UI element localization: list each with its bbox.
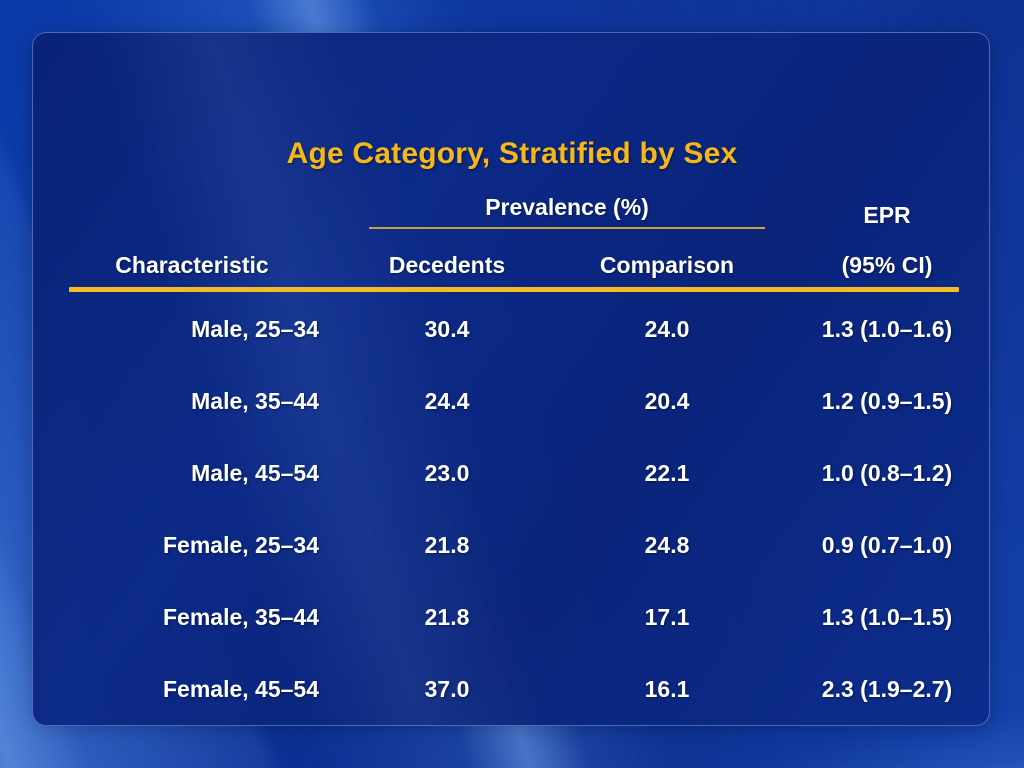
table-row: Female, 25–34 21.8 24.8 0.9 (0.7–1.0)	[37, 509, 987, 581]
cell-characteristic: Female, 45–54	[37, 653, 347, 725]
table-row: Male, 45–54 23.0 22.1 1.0 (0.8–1.2)	[37, 437, 987, 509]
results-table-container: Prevalence (%) EPR Characteristic Decede…	[37, 189, 987, 725]
group-header-characteristic-spacer	[37, 189, 347, 233]
table-body: Male, 25–34 30.4 24.0 1.3 (1.0–1.6) Male…	[37, 293, 987, 725]
presentation-slide: Age Category, Stratified by Sex Prevalen…	[0, 0, 1024, 768]
cell-decedents: 21.8	[347, 509, 547, 581]
cell-epr: 0.9 (0.7–1.0)	[787, 509, 987, 581]
column-header-comparison: Comparison	[547, 233, 787, 285]
cell-epr: 2.3 (1.9–2.7)	[787, 653, 987, 725]
cell-epr: 1.2 (0.9–1.5)	[787, 365, 987, 437]
cell-decedents: 23.0	[347, 437, 547, 509]
results-table: Prevalence (%) EPR Characteristic Decede…	[37, 189, 987, 725]
content-panel: Age Category, Stratified by Sex Prevalen…	[32, 32, 990, 726]
table-group-header-row: Prevalence (%) EPR	[37, 189, 987, 233]
cell-epr: 1.3 (1.0–1.6)	[787, 293, 987, 365]
cell-epr: 1.3 (1.0–1.5)	[787, 581, 987, 653]
slide-title: Age Category, Stratified by Sex	[33, 137, 990, 171]
table-column-header-row: Characteristic Decedents Comparison (95%…	[37, 233, 987, 285]
cell-comparison: 16.1	[547, 653, 787, 725]
cell-decedents: 21.8	[347, 581, 547, 653]
table-head: Prevalence (%) EPR Characteristic Decede…	[37, 189, 987, 293]
cell-characteristic: Female, 25–34	[37, 509, 347, 581]
cell-characteristic: Male, 45–54	[37, 437, 347, 509]
table-row: Female, 35–44 21.8 17.1 1.3 (1.0–1.5)	[37, 581, 987, 653]
table-header-rule	[69, 287, 959, 292]
table-row: Male, 25–34 30.4 24.0 1.3 (1.0–1.6)	[37, 293, 987, 365]
group-header-epr: EPR	[787, 189, 987, 233]
cell-comparison: 22.1	[547, 437, 787, 509]
group-header-epr-label: EPR	[863, 202, 910, 228]
group-header-prevalence: Prevalence (%)	[347, 189, 787, 233]
column-header-characteristic: Characteristic	[37, 233, 347, 285]
cell-characteristic: Male, 25–34	[37, 293, 347, 365]
column-header-decedents: Decedents	[347, 233, 547, 285]
cell-characteristic: Female, 35–44	[37, 581, 347, 653]
cell-decedents: 37.0	[347, 653, 547, 725]
table-header-rule-row	[37, 285, 987, 293]
cell-comparison: 20.4	[547, 365, 787, 437]
group-header-prevalence-label: Prevalence (%)	[369, 194, 765, 229]
cell-characteristic: Male, 35–44	[37, 365, 347, 437]
cell-decedents: 24.4	[347, 365, 547, 437]
cell-epr: 1.0 (0.8–1.2)	[787, 437, 987, 509]
cell-comparison: 24.8	[547, 509, 787, 581]
table-row: Female, 45–54 37.0 16.1 2.3 (1.9–2.7)	[37, 653, 987, 725]
cell-comparison: 24.0	[547, 293, 787, 365]
table-header-rule-cell	[37, 285, 987, 293]
table-row: Male, 35–44 24.4 20.4 1.2 (0.9–1.5)	[37, 365, 987, 437]
cell-decedents: 30.4	[347, 293, 547, 365]
column-header-epr-ci: (95% CI)	[787, 233, 987, 285]
cell-comparison: 17.1	[547, 581, 787, 653]
